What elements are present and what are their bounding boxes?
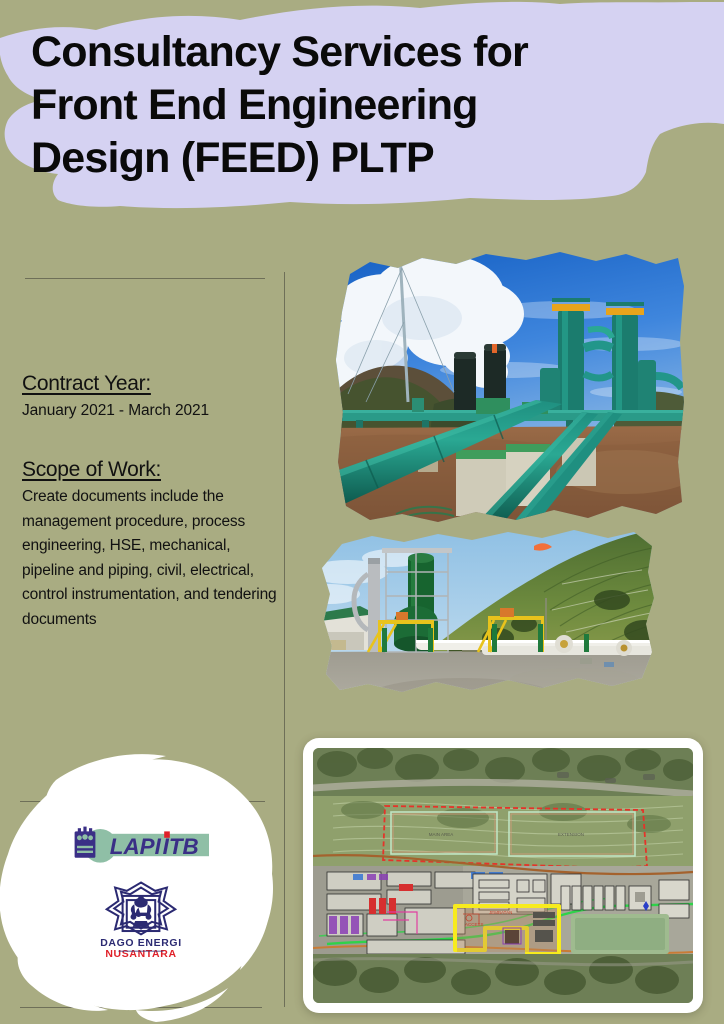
svg-text:JEMBATAN: JEMBATAN <box>489 910 512 915</box>
nusantara-text: NUSANTARA <box>105 949 176 960</box>
scope-of-work-block: Scope of Work: Create documents include … <box>22 458 284 632</box>
svg-text:MAIN AREA: MAIN AREA <box>429 832 454 837</box>
photo-well-pad-station <box>312 528 664 728</box>
itb-wordmark: ITB <box>163 834 199 859</box>
poster-canvas: Consultancy Services for Front End Engin… <box>0 0 724 1024</box>
aerial-site-plot-plan: MAIN AREA EXTENSION <box>313 748 693 1003</box>
lapi-itb-logo: LAPI ITB <box>65 825 217 865</box>
details-column: Contract Year: January 2021 - March 2021… <box>22 372 284 632</box>
scope-of-work-value: Create documents include the management … <box>22 485 280 632</box>
page-title: Consultancy Services for Front End Engin… <box>31 26 671 185</box>
dago-energi-text: DAGO ENERGI <box>100 938 182 949</box>
contract-year-block: Contract Year: January 2021 - March 2021 <box>22 372 284 422</box>
logo-area: LAPI ITB <box>0 752 286 1024</box>
lapi-wordmark: LAPI <box>110 834 162 859</box>
photo-geothermal-plant <box>326 252 688 524</box>
contract-year-value: January 2021 - March 2021 <box>22 399 284 422</box>
logo-stack: LAPI ITB <box>0 752 286 1024</box>
contract-year-label: Contract Year: <box>22 372 284 396</box>
svg-text:EXTENSION: EXTENSION <box>558 832 584 837</box>
scope-of-work-label: Scope of Work: <box>22 458 284 482</box>
dago-energi-nusantara-logo: DAGO ENERGI NUSANTARA <box>95 879 187 963</box>
svg-text:ACCESS: ACCESS <box>465 922 484 927</box>
aerial-map-card: MAIN AREA EXTENSION <box>303 738 703 1013</box>
divider-top <box>25 278 265 279</box>
